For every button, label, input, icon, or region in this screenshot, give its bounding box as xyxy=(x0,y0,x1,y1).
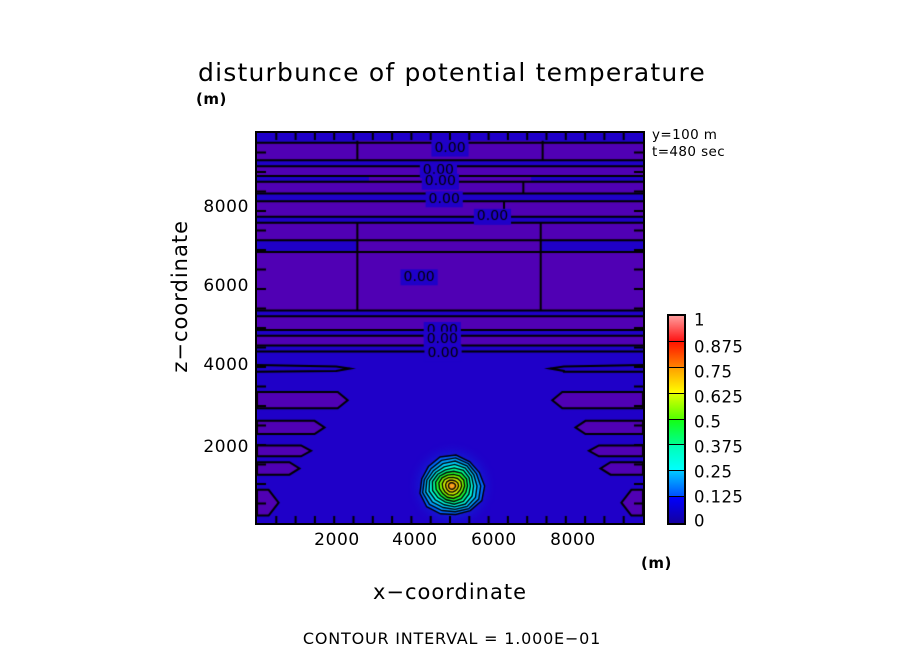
x-tick-label-8000: 8000 xyxy=(550,530,596,550)
colorbar xyxy=(667,314,686,525)
colorbar-band-3 xyxy=(669,394,684,420)
colorbar-label-0: 0 xyxy=(694,512,705,531)
plot-annotation: y=100 m t=480 sec xyxy=(652,127,725,161)
y-axis-title: z−coordinate xyxy=(168,220,192,373)
colorbar-band-6 xyxy=(669,471,684,497)
y-tick-label-2000: 2000 xyxy=(203,437,249,457)
colorbar-label-0125: 0.125 xyxy=(694,488,743,507)
page-title: disturbunce of potential temperature xyxy=(0,58,904,87)
colorbar-label-05: 0.5 xyxy=(694,413,721,432)
y-tick-label-6000: 6000 xyxy=(203,276,249,296)
annotation-t-line: t=480 sec xyxy=(652,144,725,161)
colorbar-label-075: 0.75 xyxy=(694,363,732,382)
colorbar-label-0625: 0.625 xyxy=(694,388,743,407)
x-axis-units-label: (m) xyxy=(641,554,672,572)
contour-plot-area xyxy=(255,131,645,525)
colorbar-band-5 xyxy=(669,445,684,471)
annotation-y-line: y=100 m xyxy=(652,127,725,144)
x-tick-label-4000: 4000 xyxy=(392,530,438,550)
colorbar-band-4 xyxy=(669,420,684,446)
y-tick-label-4000: 4000 xyxy=(203,355,249,375)
contour-interval-caption: CONTOUR INTERVAL = 1.000E−01 xyxy=(0,629,904,648)
colorbar-band-0 xyxy=(669,316,684,342)
colorbar-label-1: 1 xyxy=(694,311,705,330)
colorbar-label-0875: 0.875 xyxy=(694,338,743,357)
x-tick-label-6000: 6000 xyxy=(471,530,517,550)
colorbar-label-0375: 0.375 xyxy=(694,438,743,457)
colorbar-band-7 xyxy=(669,497,684,523)
colorbar-band-2 xyxy=(669,368,684,394)
colorbar-label-025: 0.25 xyxy=(694,463,732,482)
y-tick-label-8000: 8000 xyxy=(203,197,249,217)
x-tick-label-2000: 2000 xyxy=(314,530,360,550)
title-units-label: (m) xyxy=(196,90,227,108)
colorbar-band-1 xyxy=(669,342,684,368)
contour-canvas xyxy=(257,133,643,523)
x-axis-title: x−coordinate xyxy=(255,580,645,604)
